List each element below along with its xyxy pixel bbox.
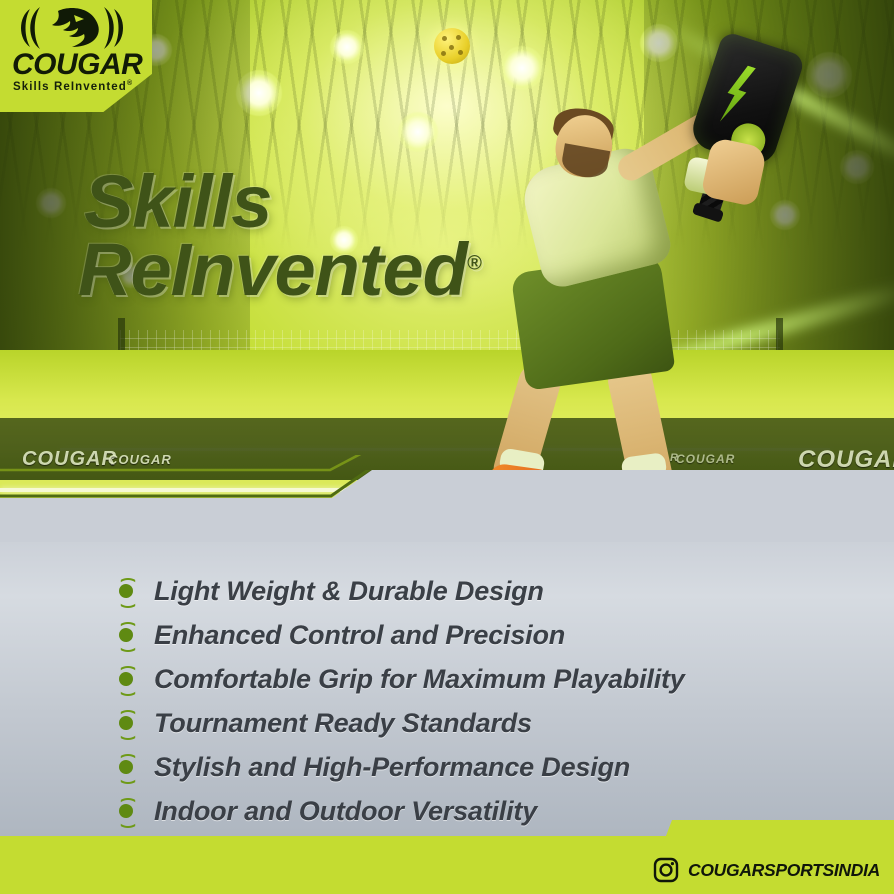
feature-item: Tournament Ready Standards — [112, 702, 872, 744]
brand-name: COUGAR — [12, 50, 142, 80]
feature-label: Light Weight & Durable Design — [154, 576, 544, 607]
ceiling-lamp-icon — [500, 46, 544, 90]
bullet-dot-icon — [112, 665, 140, 693]
poster-canvas: COUGAR COUGAR COUGAR COUGAR COUGAR — [0, 0, 894, 894]
hero-headline: Skills ReInvented® — [84, 168, 487, 304]
bullet-dot-icon — [112, 753, 140, 781]
barrier-banner-text: COUGAR — [108, 452, 172, 467]
feature-label: Comfortable Grip for Maximum Playability — [154, 664, 685, 695]
feature-item: Light Weight & Durable Design — [112, 570, 872, 612]
social-handle-group[interactable]: COUGARSPORTSINDIA — [653, 857, 880, 883]
barrier-banner-text: COUGAR — [22, 448, 117, 471]
ceiling-lamp-icon — [330, 30, 364, 64]
cougar-head-icon — [14, 5, 130, 51]
headline-line-2: ReInvented® — [78, 236, 481, 304]
ceiling-lamp-icon — [398, 112, 438, 152]
feature-label: Tournament Ready Standards — [154, 708, 532, 739]
barrier-banner-text: COUGAR — [798, 446, 894, 474]
bullet-dot-icon — [112, 621, 140, 649]
bullet-dot-icon — [112, 577, 140, 605]
feature-label: Enhanced Control and Precision — [154, 620, 565, 651]
feature-item: Comfortable Grip for Maximum Playability — [112, 658, 872, 700]
social-handle-label: COUGARSPORTSINDIA — [688, 860, 880, 881]
bullet-dot-icon — [112, 709, 140, 737]
brand-tagline: Skills ReInvented®... — [13, 80, 146, 93]
feature-label: Indoor and Outdoor Versatility — [154, 796, 537, 827]
feature-label: Stylish and High-Performance Design — [154, 752, 630, 783]
features-list: Light Weight & Durable Design Enhanced C… — [112, 570, 872, 834]
feature-item: Stylish and High-Performance Design — [112, 746, 872, 788]
instagram-icon[interactable] — [653, 857, 679, 883]
pickleball-icon — [434, 28, 470, 64]
feature-item: Enhanced Control and Precision — [112, 614, 872, 656]
bullet-dot-icon — [112, 797, 140, 825]
registered-mark: ® — [467, 252, 481, 274]
features-panel: Light Weight & Durable Design Enhanced C… — [0, 528, 894, 838]
